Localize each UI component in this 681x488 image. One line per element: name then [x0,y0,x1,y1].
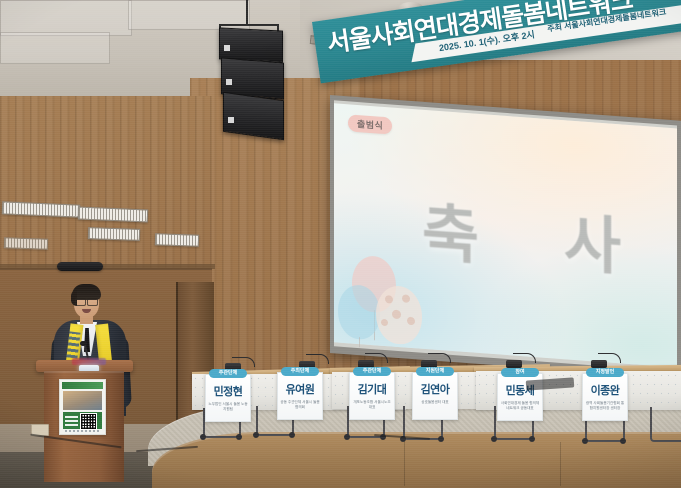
speaker-logo-icon [228,117,234,123]
line-array-speaker-bottom [223,92,284,141]
chair-caster [438,436,444,442]
nameplate-role: 주최단체 [281,367,319,376]
balloon-string [359,337,360,347]
wall-speaker [57,262,103,271]
wall-vent-grille [88,227,140,241]
nameplate-subtitle: 개포노동조합 서울시노조 대표 [350,400,394,410]
chair-caster [253,432,259,438]
nameplate-role: 주관단체 [209,369,247,378]
desk-mic [591,360,607,368]
chair-frame [650,407,681,442]
nameplate: 지정발언 이종완 광역 사회돌봄기관협회 통합지원센터장 센터장 [582,373,628,421]
nameplate-role: 참여 [501,368,539,377]
stage-seam [560,442,561,486]
auditorium-photo: 출범식 축 사 서울사회연대경제돌봄네트워크 2025. 10. 1(수). 오 [0,0,681,488]
nameplate-name: 김기대 [350,381,394,397]
poster-cta-text [65,415,78,426]
nameplate-name: 김연아 [413,381,457,397]
nameplate-subtitle: 공동 주관단체 서울시 돌봄협의회 [278,400,322,410]
projection-screen: 출범식 축 사 [330,95,681,379]
wall-vent-grille [155,233,199,247]
chair-caster [620,438,626,444]
nameplate-subtitle: 상호돌봄센터 대표 [413,400,457,405]
nameplate-subtitle: 노무법인 서울시 돌봄 노동 지원팀 [206,402,250,412]
poster-footer-text [65,430,100,432]
screen-surface: 출범식 축 사 [334,100,677,371]
balloon-dotted-icon [376,284,422,345]
slide-heading-word-2: 사 [564,192,623,286]
qr-code-icon [80,413,97,430]
chair-caster [200,434,206,440]
podium-poster [59,379,106,435]
slide-heading-word-1: 축 [422,182,481,276]
nameplate: 주최단체 유여원 공동 주관단체 서울시 돌봄협의회 [277,372,323,420]
chair-caster [289,432,295,438]
nameplate-role: 지원단체 [416,367,454,376]
nameplate-role: 주관단체 [353,367,391,376]
chair-caster [344,434,350,440]
nameplate-name: 유여원 [278,381,322,397]
nameplate-name: 이종완 [583,382,627,398]
podium-logo [72,358,106,365]
chair-caster [491,436,497,442]
presentation-slide: 출범식 축 사 [334,103,677,367]
stage-seam [404,440,405,486]
nameplate: 주관단체 민정현 노무법인 서울시 돌봄 노동 지원팀 [205,374,251,422]
nameplate-subtitle: 사회연대경제 돌봄 협의체네트워크 공동대표 [498,401,542,411]
nameplate: 주관단체 김기대 개포노동조합 서울시노조 대표 [349,372,395,420]
desk-mic [506,360,522,368]
slide-badge: 출범식 [348,114,392,134]
nameplate-name: 민정현 [206,383,250,399]
nameplate-subtitle: 광역 사회돌봄기관협회 통합지원센터장 센터장 [583,401,627,411]
nameplate-role: 지정발언 [586,368,624,377]
poster-photo [63,391,102,410]
speaker-logo-icon [224,45,230,51]
eyeglasses-icon [75,298,98,304]
speaker-suspension-rod [246,0,248,26]
poster-header-bar [62,382,103,389]
speaker-logo-icon [226,79,232,85]
ceiling-panel [0,0,132,36]
ceiling-panel [0,32,110,64]
chair-caster [236,434,242,440]
nameplate: 지원단체 김연아 상호돌봄센터 대표 [412,372,458,420]
chair-caster [529,436,535,442]
chair-caster [582,438,588,444]
wall-vent-grille [4,237,48,250]
